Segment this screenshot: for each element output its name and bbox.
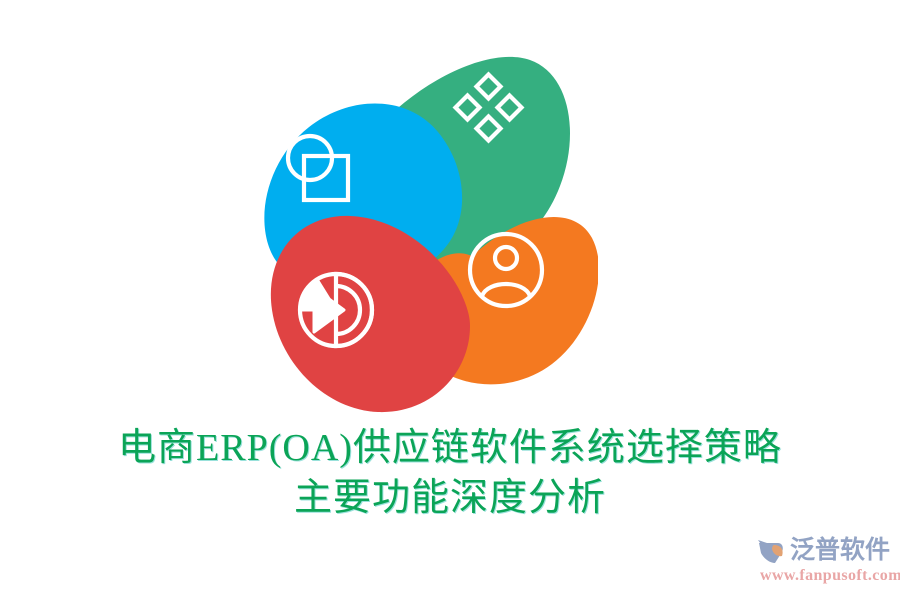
watermark-url-text: www.fanpusoft.com xyxy=(760,567,898,585)
page-canvas: 电商ERP(OA)供应链软件系统选择策略 主要功能深度分析 泛普软件 www.f… xyxy=(0,0,900,600)
watermark: 泛普软件 www.fanpusoft.com xyxy=(758,534,898,590)
watermark-brand-text: 泛普软件 xyxy=(790,536,890,564)
pinwheel-logo-svg xyxy=(258,38,598,418)
title-line-1: 电商ERP(OA)供应链软件系统选择策略 xyxy=(0,425,900,471)
brand-logo xyxy=(258,38,598,418)
title-line-2: 主要功能深度分析 xyxy=(0,475,900,521)
page-title: 电商ERP(OA)供应链软件系统选择策略 主要功能深度分析 xyxy=(0,425,900,521)
watermark-brand-row: 泛普软件 xyxy=(758,534,898,566)
fanpu-wing-icon xyxy=(758,536,788,564)
pie-chart-arrow-icon xyxy=(300,274,372,346)
